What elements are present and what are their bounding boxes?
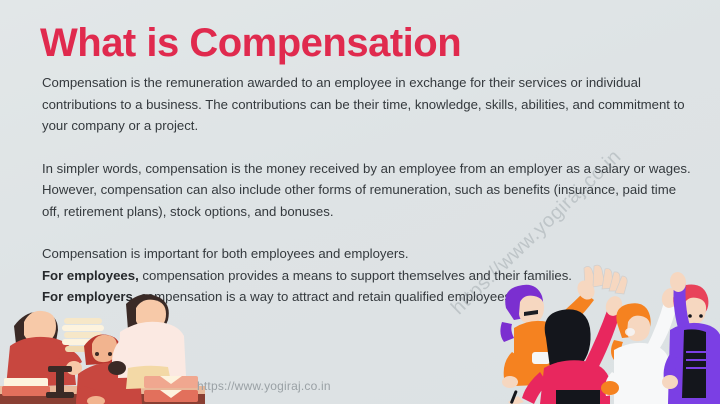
body-text: In simpler words, compensation is the mo… <box>42 161 691 219</box>
team-high-five-illustration <box>488 264 720 404</box>
body-text: Compensation is important for both emplo… <box>42 246 409 261</box>
office-workers-illustration <box>0 282 205 404</box>
slide-canvas: What is Compensation Compensation is the… <box>0 0 720 404</box>
body-text: Compensation is the remuneration awarded… <box>42 75 685 133</box>
paragraph-simpler-words: In simpler words, compensation is the mo… <box>42 158 697 223</box>
emphasis-text: For employees, <box>42 268 139 283</box>
page-title: What is Compensation <box>40 19 461 67</box>
paragraph-definition: Compensation is the remuneration awarded… <box>42 72 697 137</box>
footer-url: https://www.yogiraj.co.in <box>197 379 331 393</box>
